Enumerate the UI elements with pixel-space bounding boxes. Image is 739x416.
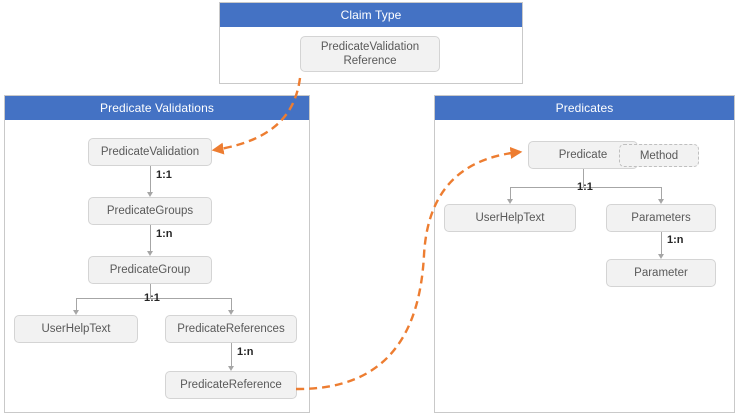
box-label: Parameters xyxy=(631,211,690,225)
box-label: PredicateGroups xyxy=(107,204,193,218)
panel-claim-type: Claim Type PredicateValidation Reference xyxy=(219,2,523,84)
box-label: Predicate xyxy=(559,148,608,162)
connector-pv-pgs xyxy=(150,166,151,192)
connector-predicate-right-drop xyxy=(661,187,662,199)
box-label-line2: Reference xyxy=(343,54,396,68)
box-label: UserHelpText xyxy=(41,322,110,336)
box-predicate-groups[interactable]: PredicateGroups xyxy=(88,197,212,225)
cardinality-pg-children: 1:1 xyxy=(144,292,160,304)
box-user-help-text[interactable]: UserHelpText xyxy=(444,204,576,232)
box-predicate-reference[interactable]: PredicateReference xyxy=(165,371,297,399)
box-label: PredicateReferences xyxy=(177,322,284,336)
panel-predicate-validations: Predicate Validations PredicateValidatio… xyxy=(4,95,310,413)
box-label: Parameter xyxy=(634,266,688,280)
connector-prs-pr xyxy=(231,343,232,366)
diagram-canvas: Claim Type PredicateValidation Reference… xyxy=(0,0,739,416)
connector-params-param xyxy=(661,232,662,254)
panel-claim-type-title: Claim Type xyxy=(220,3,522,27)
box-predicate-validation[interactable]: PredicateValidation xyxy=(88,138,212,166)
box-label: PredicateReference xyxy=(180,378,282,392)
box-label: PredicateValidation xyxy=(101,145,199,159)
connector-pgs-pg xyxy=(150,225,151,251)
box-predicate-references[interactable]: PredicateReferences xyxy=(165,315,297,343)
panel-predicates: Predicates Predicate Method UserHelpText… xyxy=(434,95,735,413)
cardinality-params-param: 1:n xyxy=(667,234,684,246)
box-parameters[interactable]: Parameters xyxy=(606,204,716,232)
cardinality-pv-pgs: 1:1 xyxy=(156,169,172,181)
cardinality-pgs-pg: 1:n xyxy=(156,228,173,240)
panel-predicates-title: Predicates xyxy=(435,96,734,120)
box-predicate-validation-reference[interactable]: PredicateValidation Reference xyxy=(300,36,440,72)
box-method[interactable]: Method xyxy=(619,144,699,167)
connector-pg-right-drop xyxy=(231,298,232,310)
panel-predicate-validations-title: Predicate Validations xyxy=(5,96,309,120)
connector-predicate-left-drop xyxy=(510,187,511,199)
box-label: UserHelpText xyxy=(475,211,544,225)
box-label-line1: PredicateValidation xyxy=(321,40,419,54)
box-label: Method xyxy=(640,149,678,163)
cardinality-prs-pr: 1:n xyxy=(237,346,254,358)
box-predicate-group[interactable]: PredicateGroup xyxy=(88,256,212,284)
connector-pg-left-drop xyxy=(76,298,77,310)
box-parameter[interactable]: Parameter xyxy=(606,259,716,287)
cardinality-predicate-children: 1:1 xyxy=(577,181,593,193)
box-label: PredicateGroup xyxy=(110,263,191,277)
box-user-help-text[interactable]: UserHelpText xyxy=(14,315,138,343)
